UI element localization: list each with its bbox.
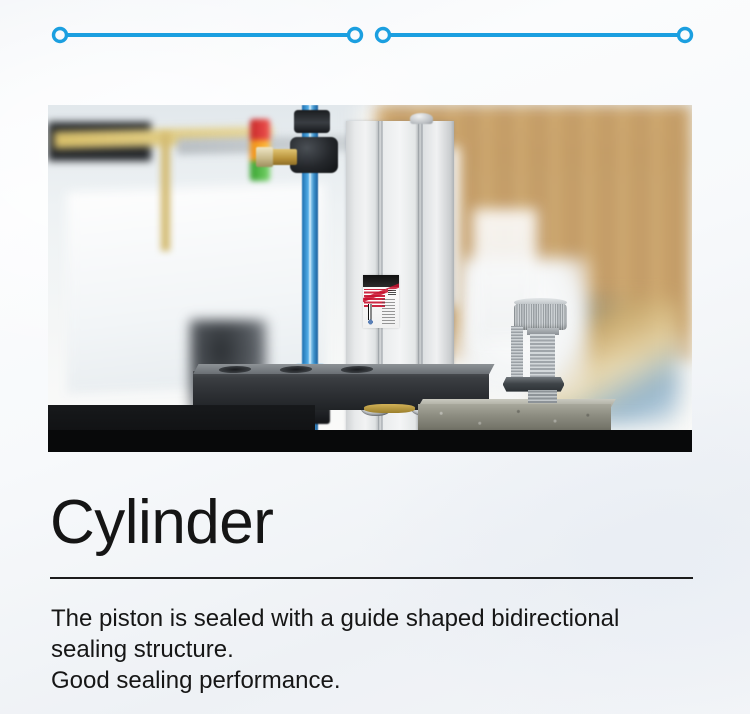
- product-label: [363, 275, 399, 328]
- brass-disc: [364, 404, 416, 413]
- decor-node-icon: [349, 29, 362, 42]
- header-decor: [0, 0, 750, 76]
- page-title: Cylinder: [50, 492, 273, 554]
- black-base-strip: [48, 430, 692, 452]
- photo-yellow-post-blur: [161, 133, 170, 251]
- product-description: The piston is sealed with a guide shaped…: [51, 603, 711, 697]
- bolt-lower-thread: [528, 390, 556, 402]
- label-spec-text: [382, 299, 395, 325]
- cylinder-top-screw: [410, 113, 433, 123]
- black-fitting-top: [294, 110, 330, 133]
- black-elbow-fitting: [290, 137, 338, 173]
- threaded-bolt: [530, 334, 556, 380]
- brass-knob: [256, 147, 273, 166]
- decor-node-icon: [679, 29, 692, 42]
- label-logo: [366, 318, 375, 327]
- signal-tower-red: [250, 119, 271, 140]
- decor-node-icon: [377, 29, 390, 42]
- description-line-3: Good sealing performance.: [51, 665, 711, 696]
- threaded-rod-thin: [511, 326, 523, 382]
- decor-node-icon: [54, 29, 67, 42]
- title-divider: [50, 577, 693, 579]
- description-line-1: The piston is sealed with a guide shaped…: [51, 603, 711, 634]
- product-photo: [48, 105, 692, 452]
- description-line-2: sealing structure.: [51, 634, 711, 665]
- label-qr-code: [388, 289, 396, 295]
